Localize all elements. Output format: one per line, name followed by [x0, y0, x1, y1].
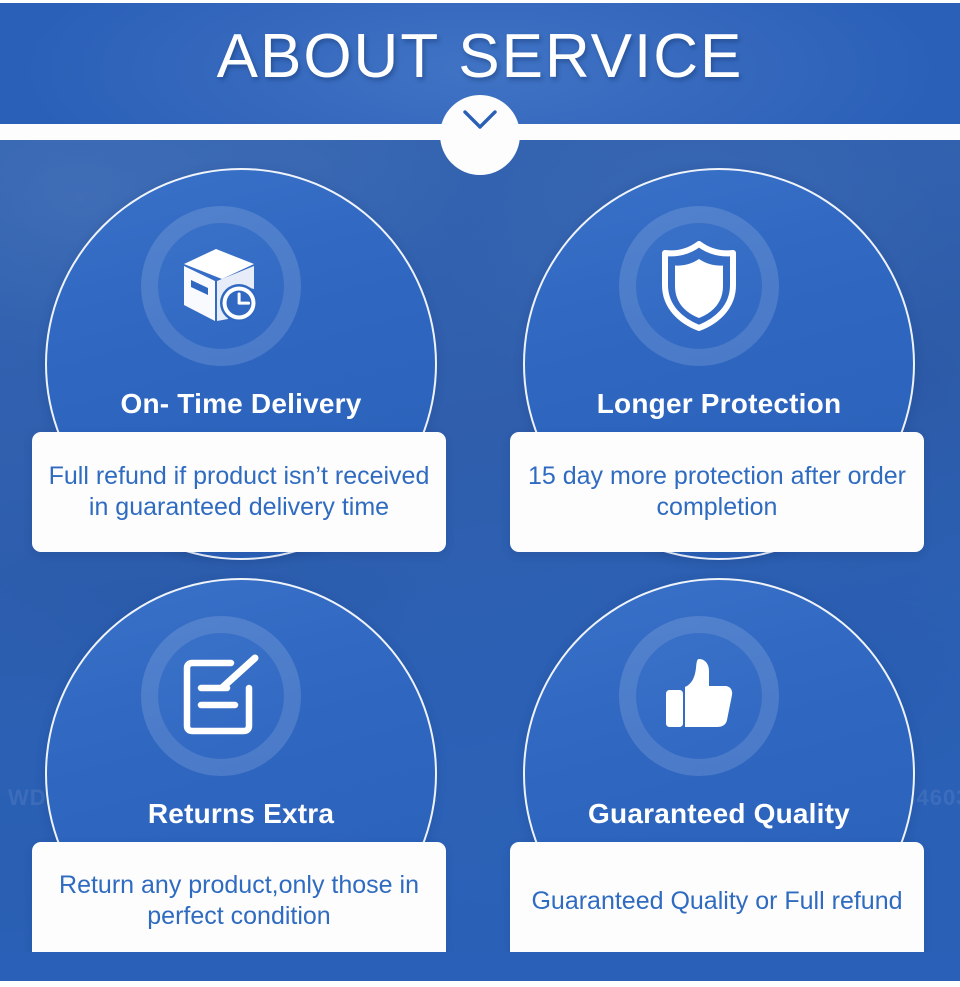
bottom-blue-band [0, 952, 960, 981]
about-service-banner: ABOUT SERVICE WD 10 1344 134603 [0, 0, 960, 987]
package-clock-icon [161, 226, 281, 346]
shield-icon [639, 226, 759, 346]
chevron-down-icon[interactable] [440, 95, 520, 175]
service-card-longer-protection[interactable]: Longer Protection 15 day more protection… [503, 168, 933, 568]
card-body: Guaranteed Quality or Full refund [510, 842, 924, 960]
service-card-on-time-delivery[interactable]: On- Time Delivery Full refund if product… [25, 168, 455, 568]
card-body-text: Return any product,only those in perfect… [46, 870, 432, 932]
card-body-text: Guaranteed Quality or Full refund [524, 886, 910, 917]
card-title: Longer Protection [503, 386, 935, 422]
card-body: 15 day more protection after order compl… [510, 432, 924, 552]
thumbs-up-icon [639, 636, 759, 756]
card-body: Return any product,only those in perfect… [32, 842, 446, 960]
bottom-white-strip [0, 981, 960, 987]
card-title: On- Time Delivery [25, 386, 457, 422]
card-body-text: Full refund if product isn’t received in… [46, 461, 432, 523]
card-title: Guaranteed Quality [503, 796, 935, 832]
service-card-guaranteed-quality[interactable]: Guaranteed Quality Guaranteed Quality or… [503, 578, 933, 978]
card-body: Full refund if product isn’t received in… [32, 432, 446, 552]
card-body-text: 15 day more protection after order compl… [524, 461, 910, 523]
document-edit-icon [161, 636, 281, 756]
card-title: Returns Extra [25, 796, 457, 832]
service-card-returns-extra[interactable]: Returns Extra Return any product,only th… [25, 578, 455, 978]
